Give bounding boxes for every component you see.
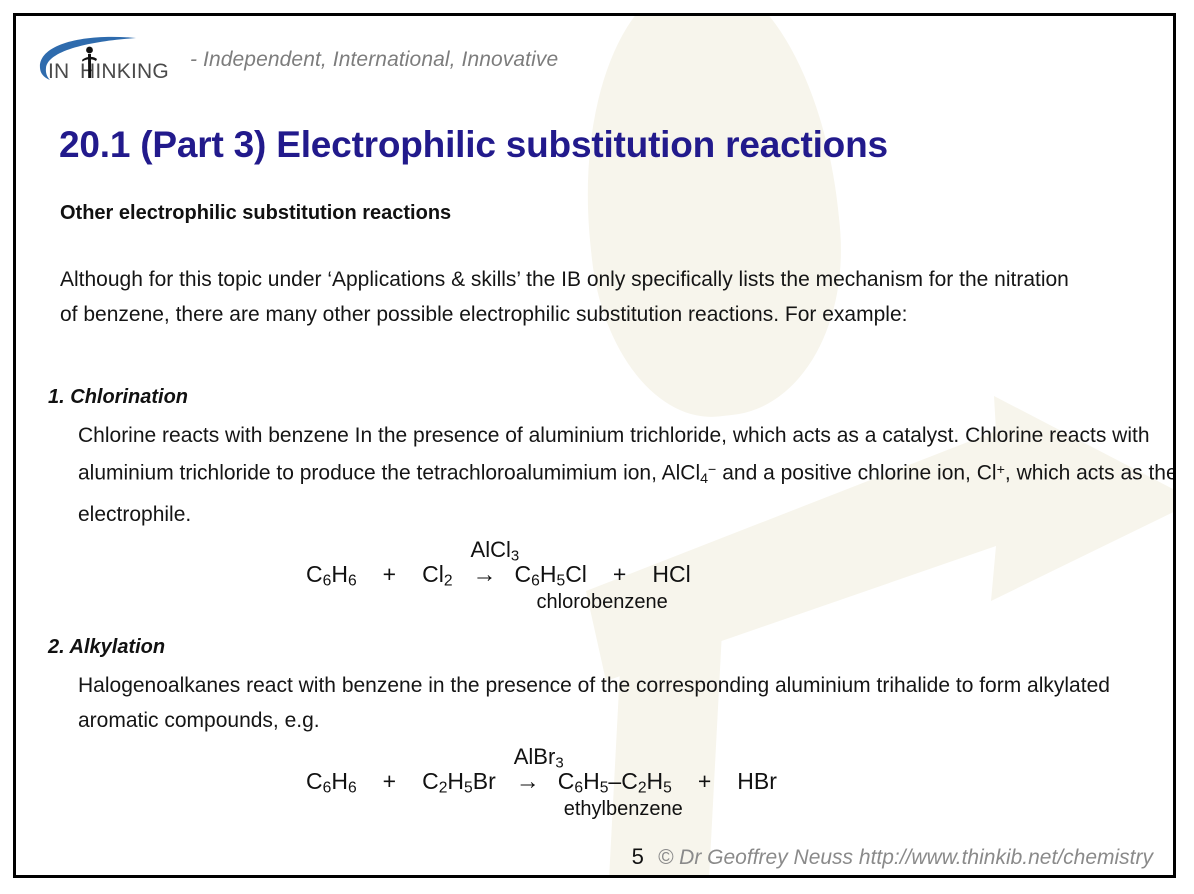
equation-product-wrap-2: C6H5–C2H5 ethylbenzene <box>558 768 672 797</box>
equation-catalyst-1: AlCl3 <box>471 537 520 564</box>
equation-product-wrap-1: C6H5Cl chlorobenzene <box>515 561 587 590</box>
slide-footer: 5 © Dr Geoffrey Neuss http://www.thinkib… <box>16 844 1173 870</box>
logo-wordmark-2: HINKING <box>80 60 169 83</box>
equation-arrow-group: AlCl3 → <box>471 563 497 587</box>
equation-plus-1: + <box>383 561 396 588</box>
alkylation-equation: C6H6 + C2H5Br AlBr3 → C6H5–C2H5 ethylben… <box>306 768 777 797</box>
equation-reactant-2: Cl2 <box>422 561 452 590</box>
cl-charge-superscript: + <box>997 462 1005 478</box>
equation2-reactant-2: C2H5Br <box>422 768 496 797</box>
inthinking-logo[interactable]: IN HINKING <box>32 34 178 86</box>
brand-header: IN HINKING - Independent, International,… <box>32 30 558 90</box>
copyright-credit: © Dr Geoffrey Neuss http://www.thinkib.n… <box>658 846 1153 870</box>
chlorination-equation: C6H6 + Cl2 AlCl3 → C6H5Cl chlorobenzene … <box>306 561 691 590</box>
reaction-arrow-icon-2: → <box>514 770 540 794</box>
slide-content: 20.1 (Part 3) Electrophilic substitution… <box>16 16 1173 875</box>
equation-catalyst-2: AlBr3 <box>514 744 564 771</box>
slide-frame: IN HINKING - Independent, International,… <box>13 13 1176 878</box>
equation2-reactant-1: C6H6 <box>306 768 357 797</box>
equation2-plus-1: + <box>383 768 396 795</box>
intro-paragraph: Although for this topic under ‘Applicati… <box>60 262 1090 332</box>
section-subheading: Other electrophilic substitution reactio… <box>60 202 451 225</box>
equation2-arrow-group: AlBr3 → <box>514 770 540 794</box>
equation2-plus-2: + <box>698 768 711 795</box>
body-text-middle: and a positive chlorine ion, Cl <box>716 462 996 485</box>
section-number-2: 2. <box>48 636 65 658</box>
reaction-arrow-icon: → <box>471 563 497 587</box>
equation-product-1: C6H5Cl <box>515 561 587 587</box>
equation-product-2: HCl <box>652 561 690 588</box>
section-title: Chlorination <box>70 386 188 408</box>
section-title-2: Alkylation <box>70 636 166 658</box>
equation-product-label-1: chlorobenzene <box>537 591 668 614</box>
logo-wordmark: IN <box>48 60 69 83</box>
equation-product-label-2: ethylbenzene <box>564 798 683 821</box>
alkylation-body: Halogenoalkanes react with benzene in th… <box>78 668 1168 738</box>
section-heading-alkylation: 2. Alkylation <box>48 636 165 659</box>
section-heading-chlorination: 1. Chlorination <box>48 386 188 409</box>
equation2-product-1: C6H5–C2H5 <box>558 768 672 794</box>
page-number: 5 <box>632 844 644 870</box>
alcl4-subscript: 4 <box>700 471 708 487</box>
page-title: 20.1 (Part 3) Electrophilic substitution… <box>59 124 888 166</box>
equation-plus-2: + <box>613 561 626 588</box>
section-number: 1. <box>48 386 65 408</box>
chlorination-body: Chlorine reacts with benzene In the pres… <box>78 418 1176 532</box>
brand-tagline: - Independent, International, Innovative <box>190 48 558 72</box>
equation-reactant-1: C6H6 <box>306 561 357 590</box>
equation2-product-2: HBr <box>737 768 777 795</box>
